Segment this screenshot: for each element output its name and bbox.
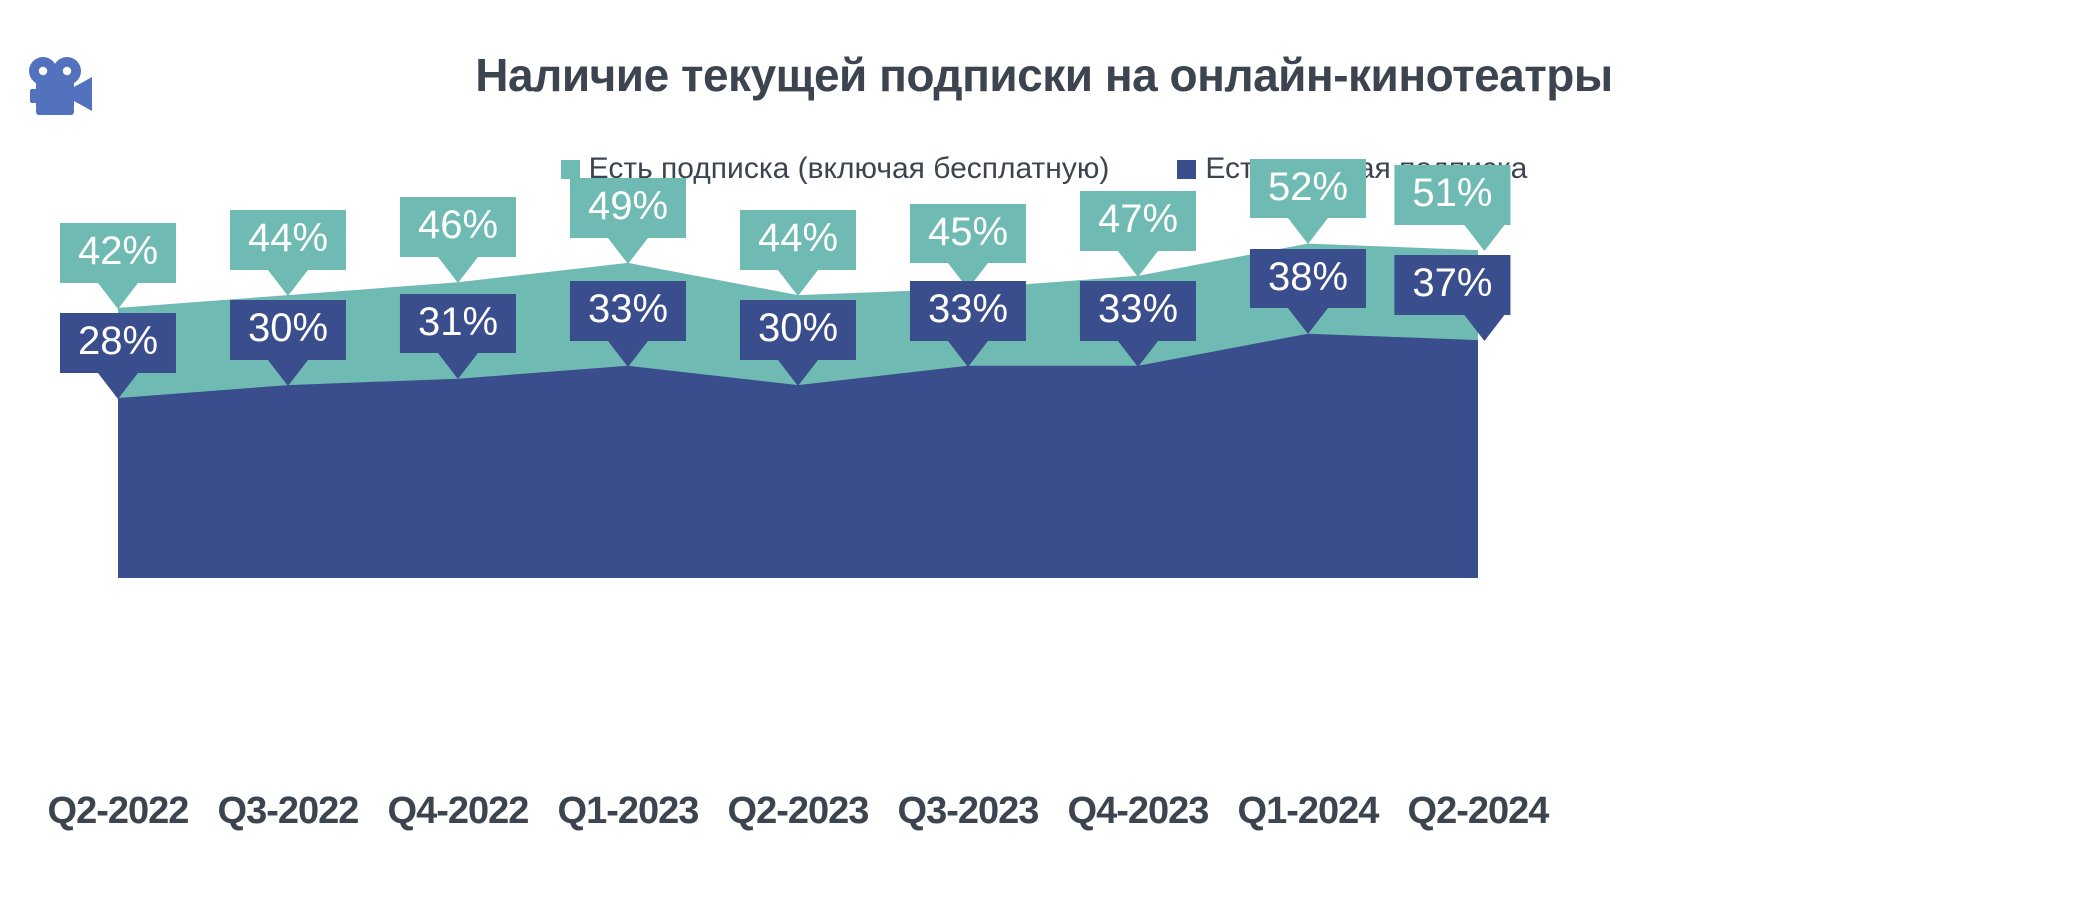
legend-swatch-paid-icon	[1177, 160, 1196, 179]
data-label-total-Q1-2023-tail	[608, 238, 648, 264]
data-label-paid-Q2-2023-box: 30%	[740, 300, 856, 360]
data-label-total-Q4-2023-box: 47%	[1080, 191, 1196, 251]
data-label-paid-Q1-2023-tail	[608, 341, 648, 367]
data-label-total-Q2-2024: 51%	[1394, 165, 1510, 251]
data-label-paid-Q2-2023: 30%	[740, 300, 856, 386]
data-label-total-Q2-2022-tail	[98, 283, 138, 309]
data-label-total-Q3-2022-box: 44%	[230, 210, 346, 270]
data-label-total-Q2-2023: 44%	[740, 210, 856, 296]
chart-legend: Есть подписка (включая бесплатную) Есть …	[0, 152, 2088, 186]
data-label-paid-Q1-2024: 38%	[1250, 249, 1366, 335]
data-label-paid-Q2-2023-tail	[778, 360, 818, 386]
data-label-paid-Q3-2023-box: 33%	[910, 281, 1026, 341]
data-label-paid-Q1-2024-box: 38%	[1250, 249, 1366, 309]
data-label-paid-Q3-2022: 30%	[230, 300, 346, 386]
data-label-paid-Q1-2023: 33%	[570, 281, 686, 367]
legend-swatch-total-icon	[561, 160, 580, 179]
data-label-paid-Q4-2023-box: 33%	[1080, 281, 1196, 341]
data-label-paid-Q4-2023: 33%	[1080, 281, 1196, 367]
data-label-paid-Q4-2022: 31%	[400, 294, 516, 380]
x-tick-label-Q4-2023: Q4-2023	[1068, 790, 1209, 833]
data-label-total-Q4-2022-tail	[438, 257, 478, 283]
data-label-paid-Q3-2022-tail	[268, 360, 308, 386]
data-label-paid-Q4-2023-tail	[1118, 341, 1158, 367]
data-label-total-Q3-2022-tail	[268, 270, 308, 296]
x-tick-label-Q4-2022: Q4-2022	[388, 790, 529, 833]
data-label-paid-Q3-2022-box: 30%	[230, 300, 346, 360]
data-label-total-Q3-2023: 45%	[910, 204, 1026, 290]
data-label-paid-Q2-2022-box: 28%	[60, 313, 176, 373]
data-label-paid-Q2-2024-box: 37%	[1394, 255, 1510, 315]
data-label-total-Q1-2024-tail	[1288, 218, 1328, 244]
data-label-paid-Q1-2023-box: 33%	[570, 281, 686, 341]
x-axis: Q2-2022Q3-2022Q4-2022Q1-2023Q2-2023Q3-20…	[0, 790, 2088, 848]
data-label-total-Q4-2023-tail	[1118, 251, 1158, 277]
data-label-total-Q2-2023-box: 44%	[740, 210, 856, 270]
area-chart-plot	[0, 0, 2088, 910]
data-label-total-Q2-2023-tail	[778, 270, 818, 296]
data-label-paid-Q3-2023: 33%	[910, 281, 1026, 367]
x-tick-label-Q2-2023: Q2-2023	[728, 790, 869, 833]
x-tick-label-Q2-2024: Q2-2024	[1408, 790, 1549, 833]
data-label-total-Q1-2024: 52%	[1250, 159, 1366, 245]
x-tick-label-Q3-2022: Q3-2022	[218, 790, 359, 833]
data-label-paid-Q2-2024: 37%	[1394, 255, 1510, 341]
data-label-paid-Q2-2022-tail	[98, 373, 138, 399]
x-tick-label-Q2-2022: Q2-2022	[48, 790, 189, 833]
chart-title: Наличие текущей подписки на онлайн-кинот…	[0, 48, 2088, 102]
data-label-total-Q4-2022: 46%	[400, 197, 516, 283]
data-label-total-Q1-2023-box: 49%	[570, 178, 686, 238]
x-tick-label-Q1-2024: Q1-2024	[1238, 790, 1379, 833]
data-label-total-Q1-2023: 49%	[570, 178, 686, 264]
data-label-total-Q2-2022-box: 42%	[60, 223, 176, 283]
data-label-total-Q4-2022-box: 46%	[400, 197, 516, 257]
data-label-paid-Q4-2022-tail	[438, 353, 478, 379]
x-tick-label-Q1-2023: Q1-2023	[558, 790, 699, 833]
data-label-total-Q1-2024-box: 52%	[1250, 159, 1366, 219]
data-label-paid-Q4-2022-box: 31%	[400, 294, 516, 354]
data-label-total-Q2-2024-tail	[1464, 225, 1504, 251]
data-label-paid-Q3-2023-tail	[948, 341, 988, 367]
data-label-total-Q2-2024-box: 51%	[1394, 165, 1510, 225]
data-label-paid-Q1-2024-tail	[1288, 308, 1328, 334]
x-tick-label-Q3-2023: Q3-2023	[898, 790, 1039, 833]
data-label-paid-Q2-2024-tail	[1464, 315, 1504, 341]
data-label-total-Q2-2022: 42%	[60, 223, 176, 309]
chart-page: Наличие текущей подписки на онлайн-кинот…	[0, 0, 2088, 910]
data-label-total-Q3-2022: 44%	[230, 210, 346, 296]
data-label-paid-Q2-2022: 28%	[60, 313, 176, 399]
data-label-total-Q3-2023-box: 45%	[910, 204, 1026, 264]
data-label-total-Q4-2023: 47%	[1080, 191, 1196, 277]
